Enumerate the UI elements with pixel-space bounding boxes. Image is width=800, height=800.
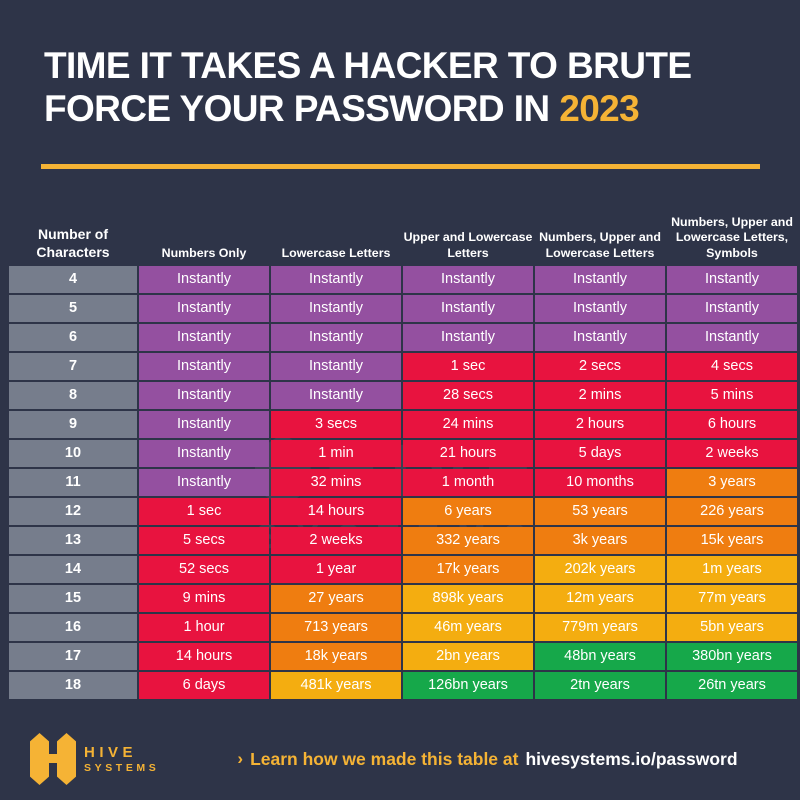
password-strength-table: Number of Characters Numbers Only Lowerc…: [7, 186, 799, 701]
table-row: 135 secs2 weeks332 years3k years15k year…: [9, 527, 797, 554]
crack-time-cell: 32 mins: [271, 469, 401, 496]
table-row: 9Instantly3 secs24 mins2 hours6 hours: [9, 411, 797, 438]
crack-time-cell: Instantly: [667, 266, 797, 293]
character-count-cell: 5: [9, 295, 137, 322]
crack-time-cell: 5 days: [535, 440, 665, 467]
crack-time-cell: Instantly: [403, 266, 533, 293]
footer-cta-url: hivesystems.io/password: [525, 749, 737, 770]
crack-time-cell: 5 mins: [667, 382, 797, 409]
table-row: 8InstantlyInstantly28 secs2 mins5 mins: [9, 382, 797, 409]
column-header-number-of-characters: Number of Characters: [9, 188, 137, 264]
title-divider: [41, 164, 760, 169]
table-row: 5InstantlyInstantlyInstantlyInstantlyIns…: [9, 295, 797, 322]
crack-time-cell: 6 days: [139, 672, 269, 699]
hive-systems-logo: HIVE SYSTEMS: [30, 733, 159, 785]
character-count-cell: 13: [9, 527, 137, 554]
crack-time-cell: 46m years: [403, 614, 533, 641]
title-year: 2023: [559, 88, 639, 129]
table-row: 11Instantly32 mins1 month10 months3 year…: [9, 469, 797, 496]
crack-time-cell: 1 sec: [139, 498, 269, 525]
crack-time-cell: Instantly: [667, 295, 797, 322]
crack-time-cell: 5 secs: [139, 527, 269, 554]
character-count-cell: 14: [9, 556, 137, 583]
column-header-numbers-upper-lowercase-letters: Numbers, Upper and Lowercase Letters: [535, 188, 665, 264]
table-row: 6InstantlyInstantlyInstantlyInstantlyIns…: [9, 324, 797, 351]
crack-time-cell: 4 secs: [667, 353, 797, 380]
character-count-cell: 16: [9, 614, 137, 641]
crack-time-cell: Instantly: [139, 266, 269, 293]
crack-time-cell: 779m years: [535, 614, 665, 641]
crack-time-cell: Instantly: [139, 411, 269, 438]
footer-cta-link[interactable]: › Learn how we made this table at hivesy…: [237, 749, 737, 770]
crack-time-cell: Instantly: [271, 324, 401, 351]
table-row: 121 sec14 hours6 years53 years226 years: [9, 498, 797, 525]
crack-time-cell: Instantly: [271, 353, 401, 380]
column-header-numbers-only: Numbers Only: [139, 188, 269, 264]
crack-time-cell: 10 months: [535, 469, 665, 496]
crack-time-cell: Instantly: [139, 469, 269, 496]
character-count-cell: 11: [9, 469, 137, 496]
crack-time-cell: 12m years: [535, 585, 665, 612]
crack-time-cell: 3 secs: [271, 411, 401, 438]
crack-time-cell: 2 weeks: [271, 527, 401, 554]
crack-time-cell: 5bn years: [667, 614, 797, 641]
crack-time-cell: 52 secs: [139, 556, 269, 583]
table-row: 7InstantlyInstantly1 sec2 secs4 secs: [9, 353, 797, 380]
crack-time-cell: 2tn years: [535, 672, 665, 699]
crack-time-cell: 17k years: [403, 556, 533, 583]
character-count-cell: 10: [9, 440, 137, 467]
page-title: TIME IT TAKES A HACKER TO BRUTE FORCE YO…: [44, 44, 756, 131]
column-header-lowercase-letters: Lowercase Letters: [271, 188, 401, 264]
crack-time-cell: 1 month: [403, 469, 533, 496]
crack-time-cell: 9 mins: [139, 585, 269, 612]
title-line-2-prefix: FORCE YOUR PASSWORD IN: [44, 88, 550, 129]
character-count-cell: 6: [9, 324, 137, 351]
crack-time-cell: Instantly: [139, 353, 269, 380]
crack-time-cell: 21 hours: [403, 440, 533, 467]
crack-time-cell: 1 min: [271, 440, 401, 467]
crack-time-cell: 1 hour: [139, 614, 269, 641]
table-body: 4InstantlyInstantlyInstantlyInstantlyIns…: [9, 266, 797, 699]
crack-time-cell: Instantly: [271, 266, 401, 293]
character-count-cell: 9: [9, 411, 137, 438]
table-row: 10Instantly1 min21 hours5 days2 weeks: [9, 440, 797, 467]
crack-time-cell: Instantly: [139, 324, 269, 351]
crack-time-cell: 1 sec: [403, 353, 533, 380]
crack-time-cell: 202k years: [535, 556, 665, 583]
table-row: 186 days481k years126bn years2tn years26…: [9, 672, 797, 699]
crack-time-cell: 15k years: [667, 527, 797, 554]
logo-wordmark: HIVE SYSTEMS: [84, 744, 159, 773]
crack-time-cell: 14 hours: [271, 498, 401, 525]
crack-time-cell: 24 mins: [403, 411, 533, 438]
crack-time-cell: 77m years: [667, 585, 797, 612]
table-header-row: Number of Characters Numbers Only Lowerc…: [9, 188, 797, 264]
crack-time-cell: 2 weeks: [667, 440, 797, 467]
table-row: 161 hour713 years46m years779m years5bn …: [9, 614, 797, 641]
crack-time-cell: 3k years: [535, 527, 665, 554]
crack-time-cell: 27 years: [271, 585, 401, 612]
crack-time-cell: 226 years: [667, 498, 797, 525]
crack-time-cell: Instantly: [139, 440, 269, 467]
crack-time-cell: 2bn years: [403, 643, 533, 670]
table-row: 1452 secs1 year17k years202k years1m yea…: [9, 556, 797, 583]
crack-time-cell: Instantly: [535, 324, 665, 351]
crack-time-cell: Instantly: [271, 295, 401, 322]
crack-time-cell: 14 hours: [139, 643, 269, 670]
table-row: 1714 hours18k years2bn years48bn years38…: [9, 643, 797, 670]
infographic-footer: HIVE SYSTEMS › Learn how we made this ta…: [0, 718, 800, 800]
crack-time-cell: Instantly: [667, 324, 797, 351]
crack-time-cell: 53 years: [535, 498, 665, 525]
crack-time-cell: Instantly: [535, 266, 665, 293]
crack-time-cell: 2 secs: [535, 353, 665, 380]
crack-time-cell: Instantly: [403, 295, 533, 322]
crack-time-cell: 380bn years: [667, 643, 797, 670]
crack-time-cell: 3 years: [667, 469, 797, 496]
column-header-numbers-upper-lowercase-symbols: Numbers, Upper and Lowercase Letters, Sy…: [667, 188, 797, 264]
character-count-cell: 15: [9, 585, 137, 612]
crack-time-cell: Instantly: [139, 382, 269, 409]
crack-time-cell: 6 hours: [667, 411, 797, 438]
crack-time-cell: 26tn years: [667, 672, 797, 699]
crack-time-cell: 332 years: [403, 527, 533, 554]
crack-time-cell: 48bn years: [535, 643, 665, 670]
crack-time-cell: Instantly: [535, 295, 665, 322]
crack-time-cell: Instantly: [271, 382, 401, 409]
character-count-cell: 8: [9, 382, 137, 409]
table-header: Number of Characters Numbers Only Lowerc…: [9, 188, 797, 264]
crack-time-cell: 2 hours: [535, 411, 665, 438]
password-strength-table-container: Number of Characters Numbers Only Lowerc…: [7, 186, 793, 701]
crack-time-cell: 18k years: [271, 643, 401, 670]
character-count-cell: 18: [9, 672, 137, 699]
crack-time-cell: 481k years: [271, 672, 401, 699]
character-count-cell: 7: [9, 353, 137, 380]
character-count-cell: 4: [9, 266, 137, 293]
footer-cta-text: Learn how we made this table at: [250, 749, 518, 770]
chevron-right-icon: ›: [237, 749, 243, 769]
crack-time-cell: 28 secs: [403, 382, 533, 409]
character-count-cell: 12: [9, 498, 137, 525]
crack-time-cell: 126bn years: [403, 672, 533, 699]
crack-time-cell: 898k years: [403, 585, 533, 612]
table-row: 159 mins27 years898k years12m years77m y…: [9, 585, 797, 612]
table-row: 4InstantlyInstantlyInstantlyInstantlyIns…: [9, 266, 797, 293]
crack-time-cell: 1 year: [271, 556, 401, 583]
crack-time-cell: 2 mins: [535, 382, 665, 409]
crack-time-cell: 1m years: [667, 556, 797, 583]
infographic-header: TIME IT TAKES A HACKER TO BRUTE FORCE YO…: [0, 0, 800, 131]
crack-time-cell: Instantly: [139, 295, 269, 322]
column-header-upper-and-lowercase-letters: Upper and Lowercase Letters: [403, 188, 533, 264]
logo-hive-text: HIVE: [84, 744, 159, 761]
crack-time-cell: Instantly: [403, 324, 533, 351]
character-count-cell: 17: [9, 643, 137, 670]
hive-hexagon-h-icon: [30, 733, 76, 785]
logo-systems-text: SYSTEMS: [84, 762, 159, 774]
crack-time-cell: 6 years: [403, 498, 533, 525]
title-line-1: TIME IT TAKES A HACKER TO BRUTE: [44, 45, 691, 86]
h-crossbar: [44, 754, 62, 763]
crack-time-cell: 713 years: [271, 614, 401, 641]
